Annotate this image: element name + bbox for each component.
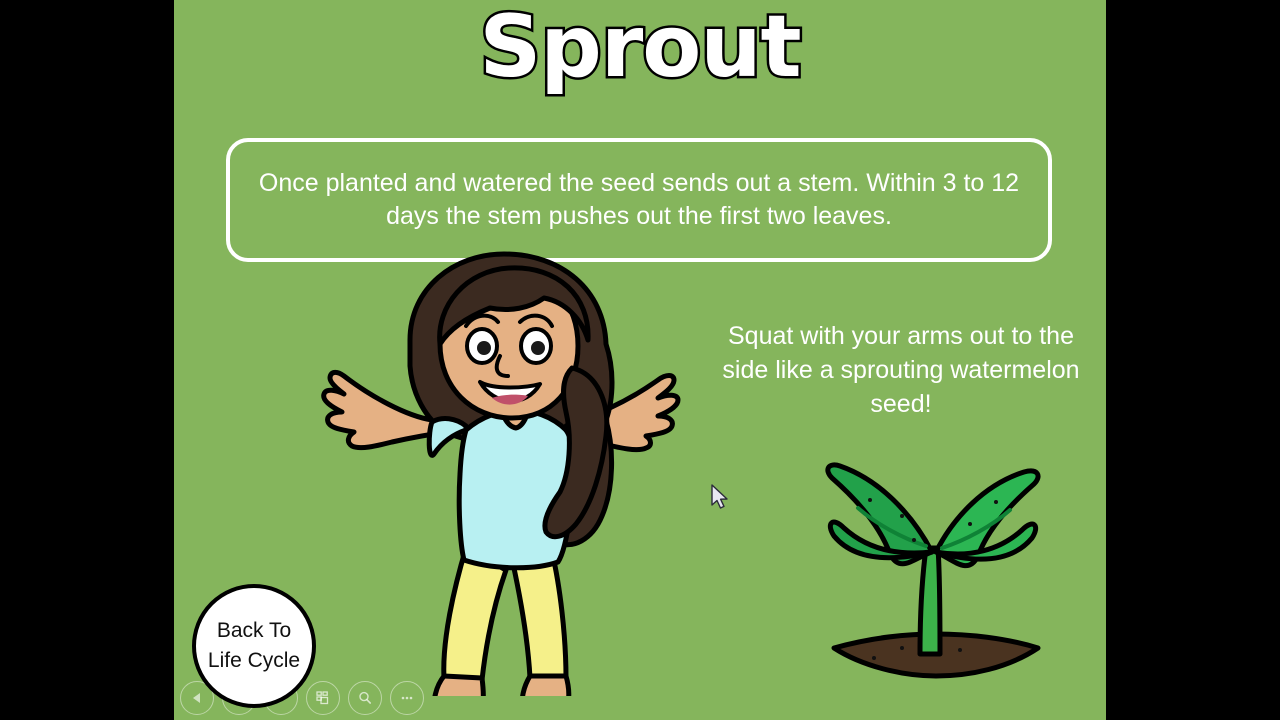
search-button[interactable] — [348, 681, 382, 715]
layout-grid-button[interactable] — [306, 681, 340, 715]
description-box: Once planted and watered the seed sends … — [226, 138, 1052, 262]
description-text: Once planted and watered the seed sends … — [230, 167, 1048, 233]
back-button-line2: Life Cycle — [208, 646, 300, 676]
page-title: Sprout — [174, 0, 1106, 102]
search-icon — [357, 690, 373, 706]
girl-character-illustration — [314, 248, 734, 696]
slide-canvas: Sprout Once planted and watered the seed… — [174, 0, 1106, 720]
ellipsis-icon — [399, 690, 415, 706]
video-player: Sprout Once planted and watered the seed… — [0, 0, 1280, 720]
left-triangle-icon — [190, 691, 204, 705]
back-button-line1: Back To — [217, 616, 291, 646]
more-options-button[interactable] — [390, 681, 424, 715]
back-to-life-cycle-button[interactable]: Back To Life Cycle — [192, 584, 316, 708]
sprout-illustration — [810, 452, 1060, 692]
instruction-text: Squat with your arms out to the side lik… — [714, 320, 1088, 421]
grid-icon — [315, 690, 331, 706]
